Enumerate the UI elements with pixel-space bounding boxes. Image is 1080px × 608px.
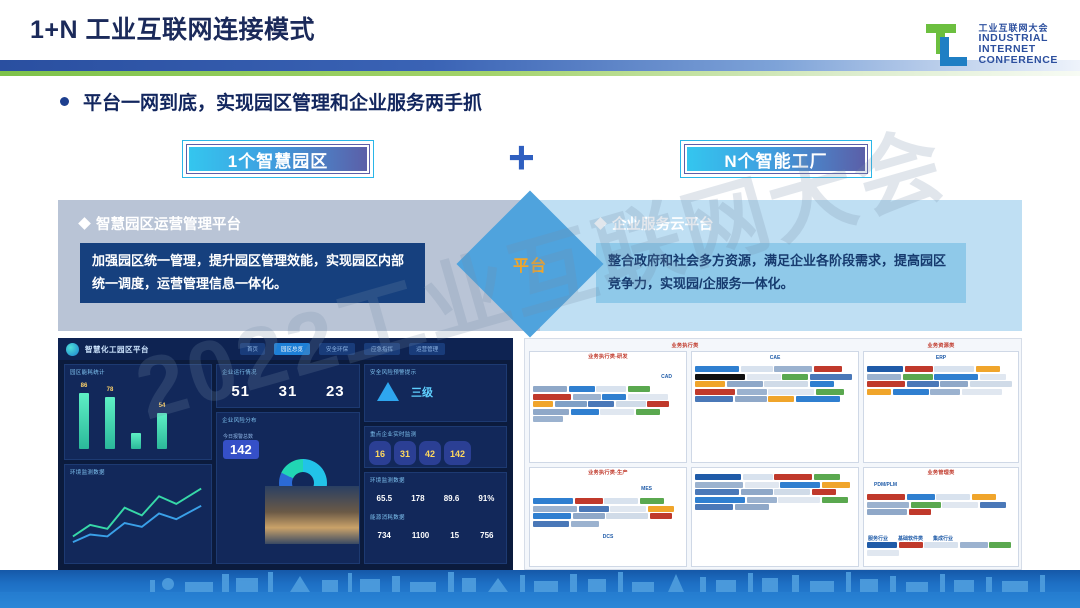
vendor-chip (695, 396, 733, 402)
vendor-chip (822, 482, 850, 488)
grid-section-exec-rd: 业务执行类-研发 CAD (529, 351, 687, 463)
grid-chips-resource (867, 366, 1015, 459)
vendor-chip (934, 374, 978, 380)
dashboard-stat-2-1: 1100 (412, 525, 429, 543)
vendor-chip (867, 502, 909, 508)
conference-logo: 工业互联网大会 INDUSTRIAL INTERNET CONFERENCE (924, 20, 1058, 70)
grid-header-exec: 业务执行类 (625, 342, 745, 349)
diamond-bullet-icon-2 (594, 217, 607, 230)
tag-outer-frame: 1个智慧园区 (182, 140, 374, 178)
dashboard-line-chart (71, 479, 205, 546)
vendor-chip (610, 506, 646, 512)
vendor-chip (747, 497, 777, 503)
vendor-chip (533, 506, 577, 512)
tag-outer-frame-2: N个智能工厂 (680, 140, 872, 178)
vendor-chip (867, 542, 897, 548)
dashboard-pill-value-0: 16 (375, 449, 385, 459)
dashboard-stat-value-2-2: 15 (450, 531, 459, 540)
dashboard-kpi-0: 51 (231, 383, 250, 400)
vendor-chip (533, 394, 571, 400)
vendor-chip (768, 389, 814, 395)
vendor-chip (867, 389, 891, 395)
grid-section-resource-tag: ERP (936, 355, 946, 361)
dashboard-stats-row-2: 734 1100 15 756 (365, 521, 506, 547)
vendor-chip (569, 386, 595, 392)
bullet-label: 平台一网到底，实现园区管理和企业服务两手抓 (83, 88, 482, 115)
vendor-chip (695, 381, 725, 387)
vendor-chip (867, 366, 903, 372)
vendor-chip (774, 489, 810, 495)
grid-chips-exec-rd (533, 386, 683, 459)
header-divider-blue (0, 60, 1080, 71)
grid-section-resource: ERP (863, 351, 1019, 463)
dashboard-bar-3: 54 (157, 413, 167, 449)
skyline-decoration-icon (0, 570, 1080, 608)
vendor-chip (533, 416, 563, 422)
vendor-chip (571, 521, 599, 527)
vendor-chip (575, 498, 603, 504)
dashboard-pill-3: 142 (444, 441, 471, 465)
tag-smart-factory-label: N个智能工厂 (724, 147, 827, 172)
vendor-chip (628, 394, 668, 400)
dashboard-bar-value-1: 78 (107, 387, 114, 393)
tag-fill-2: N个智能工厂 (687, 147, 865, 171)
vendor-chip (960, 542, 988, 548)
vendor-chip (533, 401, 553, 407)
dashboard-pill-1: 31 (394, 441, 416, 465)
dashboard-kpi-title: 企业运行情况 (217, 365, 359, 376)
dashboard-pill-row: 16 31 42 142 (365, 438, 506, 468)
panel-left-header: 智慧园区运营管理平台 (80, 213, 522, 234)
vendor-chip (903, 374, 933, 380)
dashboard-stat-2-3: 756 (480, 525, 493, 543)
dashboard-stat-1-2: 89.6 (444, 488, 460, 506)
vendor-chip (727, 381, 763, 387)
vendor-chip (962, 389, 1002, 395)
vendor-chip (648, 506, 674, 512)
dashboard-bar-group: 86 78 54 (79, 391, 167, 449)
grid-header-resource: 业务资源类 (881, 342, 1001, 349)
vendor-chip (533, 498, 573, 504)
vendor-chip (905, 366, 933, 372)
vendor-logo-grid: 业务执行类-研发 CAD CAE (524, 338, 1022, 570)
panel-right-header: 企业服务云平台 (596, 213, 1004, 234)
dashboard-stats-title-1: 环境监测数据 (365, 473, 506, 484)
vendor-chip (814, 366, 842, 372)
grid-sub-label-0: 服务行业 (868, 535, 888, 542)
page-title: 1+N 工业互联网连接模式 (30, 10, 315, 46)
dashboard-stat-value-2-0: 734 (378, 531, 391, 540)
vendor-chip (571, 409, 599, 415)
dashboard-tabs: 首页 园区总览 安全环保 应急指挥 运营管理 (240, 343, 445, 355)
vendor-chip (774, 474, 812, 480)
dashboard-bar-value-3: 54 (159, 403, 166, 409)
dashboard-bar-1: 78 (105, 397, 115, 449)
panel-right-body: 整合政府和社会多方资源，满足企业各阶段需求，提高园区竞争力，实现园/企服务一体化… (596, 243, 966, 303)
vendor-chip (764, 381, 808, 387)
vendor-chip (867, 374, 901, 380)
dashboard-stat-value-1-0: 65.5 (377, 494, 393, 503)
vendor-chip (774, 366, 812, 372)
dashboard-bar-0: 86 (79, 393, 89, 449)
grid-section-prod: 业务执行类-生产 MES DCS (529, 467, 687, 567)
tag-inner-frame-2: N个智能工厂 (684, 144, 868, 174)
vendor-chip (796, 396, 840, 402)
vendor-chip (970, 381, 1012, 387)
dashboard-bars-title: 园区能耗统计 (65, 365, 211, 376)
dashboard-alert-title: 安全风险预警提示 (365, 365, 506, 376)
dashboard-title: 智慧化工园区平台 (85, 344, 149, 355)
vendor-chip (533, 386, 567, 392)
dashboard-screenshot: 智慧化工园区平台 首页 园区总览 安全环保 应急指挥 运营管理 园区能耗统计 8… (58, 338, 513, 570)
dashboard-stat-1-0: 65.5 (377, 488, 393, 506)
dashboard-pills-title: 重点企业实时监测 (365, 427, 506, 438)
vendor-chip (640, 498, 664, 504)
vendor-chip (735, 504, 769, 510)
vendor-chip (893, 389, 929, 395)
dashboard-stat-1-3: 91% (478, 488, 494, 506)
vendor-chip (899, 542, 923, 548)
dashboard-alert-row: 三级 (365, 376, 506, 401)
dashboard-stat-value-2-1: 1100 (412, 531, 429, 540)
vendor-chip (573, 513, 605, 519)
dashboard-stat-value-1-2: 89.6 (444, 494, 460, 503)
vendor-chip (980, 374, 1006, 380)
grid-section-prod-title: 业务执行类-生产 (530, 469, 686, 476)
vendor-chip (936, 494, 970, 500)
vendor-chip (822, 497, 848, 503)
grid-section-exec-cae-tag: CAE (770, 355, 781, 361)
grid-section-mgmt-title: 业务管理类 (864, 469, 1018, 476)
vendor-chip (628, 386, 650, 392)
logo-mark-icon (924, 20, 970, 70)
tag-smart-park-label: 1个智慧园区 (228, 147, 328, 172)
bullet-line: 平台一网到底，实现园区管理和企业服务两手抓 (60, 88, 482, 115)
grid-section-exec-rd-title: 业务执行类-研发 (530, 353, 686, 360)
vendor-chip (741, 366, 773, 372)
dashboard-pill-0: 16 (369, 441, 391, 465)
vendor-chip (650, 513, 672, 519)
vendor-chip (695, 497, 745, 503)
dashboard-donut-title: 企业风险分布 (217, 413, 359, 424)
vendor-chip (867, 494, 905, 500)
dashboard-pill-2: 42 (419, 441, 441, 465)
panel-right-heading: 企业服务云平台 (612, 213, 714, 234)
vendor-chip (907, 381, 939, 387)
panel-enterprise-cloud: 企业服务云平台 整合政府和社会多方资源，满足企业各阶段需求，提高园区竞争力，实现… (540, 200, 1022, 331)
dashboard-tab-3[interactable]: 应急指挥 (364, 343, 400, 355)
vendor-chip (980, 502, 1006, 508)
header-divider-green (0, 71, 1080, 76)
grid-section-exec-rd-tag: CAD (661, 374, 672, 380)
grid-sub-label-1: 基础软件类 (898, 535, 923, 542)
vendor-chip (909, 509, 931, 515)
dashboard-kpi-2: 23 (326, 383, 345, 400)
vendor-chip (782, 374, 808, 380)
vendor-chip (810, 381, 834, 387)
dashboard-alert-level: 三级 (411, 384, 433, 400)
grid-sub-label-2: 集成行业 (933, 535, 953, 542)
dashboard-bar-2 (131, 433, 141, 449)
dashboard-topbar: 智慧化工园区平台 首页 园区总览 安全环保 应急指挥 运营管理 (58, 338, 513, 360)
vendor-chip (780, 482, 820, 488)
dashboard-card-kpi: 企业运行情况 51 31 23 (216, 364, 360, 408)
tag-inner-frame: 1个智慧园区 (186, 144, 370, 174)
vendor-chip (735, 396, 767, 402)
vendor-chip (934, 366, 974, 372)
vendor-chip (695, 482, 743, 488)
vendor-chip (533, 409, 569, 415)
grid-subsection-labels: 服务行业 基础软件类 集成行业 (868, 535, 953, 542)
footer-band (0, 570, 1080, 608)
diamond-bullet-icon (78, 217, 91, 230)
dashboard-stats-row-1: 65.5 178 89.6 91% (365, 484, 506, 510)
vendor-chip (695, 474, 741, 480)
dashboard-card-trend: 环境监测数据 (64, 464, 212, 564)
vendor-chip (745, 482, 779, 488)
vendor-chip (555, 401, 587, 407)
vendor-chip (930, 389, 960, 395)
vendor-chip (647, 401, 669, 407)
vendor-chip (816, 389, 844, 395)
grid-chips-exec-cae (695, 366, 855, 459)
tag-smart-park[interactable]: 1个智慧园区 (182, 140, 374, 178)
vendor-chip (814, 474, 840, 480)
dashboard-bar-value-0: 86 (81, 383, 88, 389)
dashboard-pill-value-3: 142 (450, 449, 465, 459)
dashboard-tab-4[interactable]: 运营管理 (409, 343, 445, 355)
vendor-chip (743, 474, 773, 480)
bullet-dot-icon (60, 97, 69, 106)
vendor-chip (942, 502, 978, 508)
vendor-chip (778, 497, 820, 503)
grid-section-prod-mid (691, 467, 859, 567)
panel-left-heading: 智慧园区运营管理平台 (96, 213, 241, 234)
vendor-chip (907, 494, 935, 500)
dashboard-logo-icon (66, 343, 79, 356)
grid-section-prod-tag-dcs: DCS (603, 534, 614, 540)
vendor-chip (695, 504, 733, 510)
vendor-chip (695, 389, 735, 395)
vendor-chip (573, 394, 601, 400)
dashboard-big-value: 142 (223, 440, 259, 459)
grid-chips-mgmt-bottom (867, 542, 1015, 563)
vendor-chip (812, 489, 836, 495)
dashboard-kpi-row: 51 31 23 (217, 376, 359, 406)
vendor-chip (604, 498, 638, 504)
vendor-chip (600, 409, 634, 415)
vendor-chip (579, 506, 609, 512)
tag-fill: 1个智慧园区 (189, 147, 367, 171)
vendor-chip (616, 401, 646, 407)
grid-section-mgmt-tag: PDM/PLM (874, 482, 897, 488)
warning-triangle-icon (377, 382, 399, 401)
vendor-chip (911, 502, 941, 508)
vendor-chip (636, 409, 660, 415)
dashboard-pill-value-1: 31 (400, 449, 410, 459)
vendor-chip (695, 366, 739, 372)
vendor-chip (972, 494, 996, 500)
dashboard-tab-0[interactable]: 首页 (240, 343, 265, 355)
grid-chips-prod (533, 498, 683, 563)
dashboard-video-thumbnail (265, 486, 359, 544)
vendor-chip (989, 542, 1011, 548)
dashboard-tab-1[interactable]: 园区总览 (274, 343, 310, 355)
vendor-chip (533, 521, 569, 527)
vendor-chip (976, 366, 1000, 372)
plus-icon: + (508, 134, 535, 180)
grid-section-prod-tag: MES (641, 486, 652, 492)
dashboard-stat-value-1-3: 91% (478, 494, 494, 503)
vendor-chip (810, 374, 852, 380)
vendor-chip (867, 509, 907, 515)
dashboard-card-stats: 环境监测数据 65.5 178 89.6 91% 能源消耗数据 734 1100… (364, 472, 507, 564)
vendor-chip (606, 513, 648, 519)
vendor-chip (867, 550, 899, 556)
panel-left-body: 加强园区统一管理，提升园区管理效能，实现园区内部统一调度，运营管理信息一体化。 (80, 243, 425, 303)
dashboard-tab-2[interactable]: 安全环保 (319, 343, 355, 355)
center-diamond-label: 平台 (500, 252, 560, 276)
dashboard-stat-2-2: 15 (450, 525, 459, 543)
vendor-chip (602, 394, 626, 400)
grid-section-exec-cae: CAE (691, 351, 859, 463)
dashboard-big-label: 今日报警总数 (223, 433, 259, 440)
dashboard-big-number-box: 今日报警总数 142 (223, 433, 259, 459)
dashboard-pill-value-2: 42 (425, 449, 435, 459)
tag-smart-factory[interactable]: N个智能工厂 (680, 140, 872, 178)
vendor-chip (940, 381, 968, 387)
vendor-chip (695, 489, 739, 495)
vendor-chip (533, 513, 571, 519)
vendor-chip (737, 389, 767, 395)
dashboard-stat-value-1-1: 178 (411, 494, 424, 503)
dashboard-card-pills: 重点企业实时监测 16 31 42 142 (364, 426, 507, 468)
logo-text-en-3: CONFERENCE (978, 55, 1058, 66)
dashboard-card-alert: 安全风险预警提示 三级 (364, 364, 507, 422)
vendor-chip (747, 374, 781, 380)
dashboard-trend-title: 环境监测数据 (65, 465, 211, 476)
dashboard-stat-1-1: 178 (411, 488, 424, 506)
grid-section-mgmt: 业务管理类 PDM/PLM 服务行业 基础软件类 集成行业 (863, 467, 1019, 567)
grid-chips-prod-mid (695, 474, 855, 563)
vendor-chip (741, 489, 773, 495)
dashboard-stat-value-2-3: 756 (480, 531, 493, 540)
vendor-chip (924, 542, 958, 548)
vendor-chip (768, 396, 794, 402)
vendor-chip (695, 374, 745, 380)
vendor-chip (596, 386, 626, 392)
dashboard-card-energy-bars: 园区能耗统计 86 78 54 (64, 364, 212, 460)
dashboard-stats-title-2: 能源消耗数据 (365, 510, 506, 521)
vendor-chip (588, 401, 614, 407)
dashboard-kpi-1: 31 (279, 383, 298, 400)
vendor-chip (867, 381, 905, 387)
dashboard-stat-2-0: 734 (378, 525, 391, 543)
